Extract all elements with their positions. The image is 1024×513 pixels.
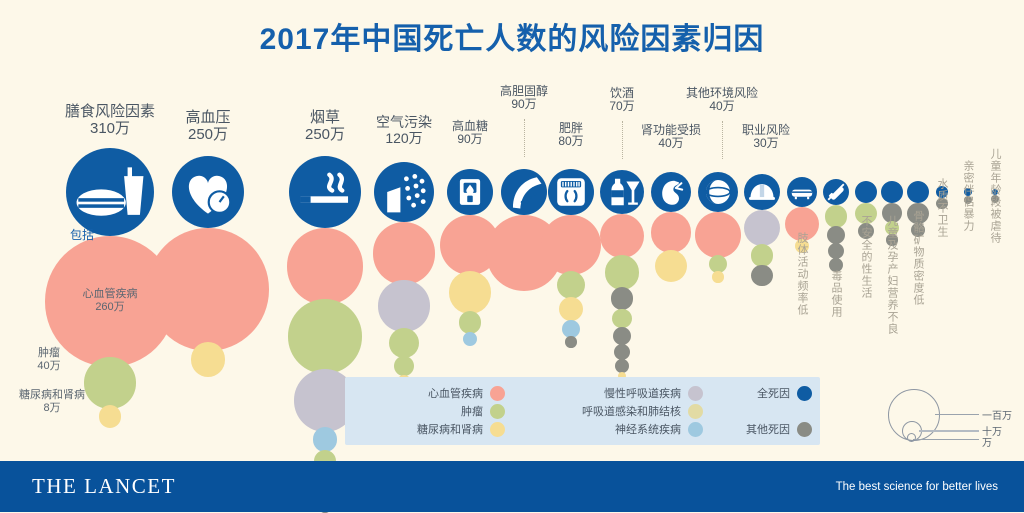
cause-bubble: [751, 244, 774, 267]
cause-bubble: [373, 222, 436, 285]
risk-icon-10[interactable]: [698, 172, 738, 212]
legend-swatch: [490, 404, 505, 419]
legend-item-c-2: 其他死因: [746, 420, 812, 438]
risk-icon-1[interactable]: [66, 148, 154, 236]
cause-bubble: [559, 297, 583, 321]
legend-item-b-1: 慢性呼吸道疾病: [523, 384, 703, 402]
cause-bubble: [557, 271, 585, 299]
callout-name: 肿瘤: [38, 347, 60, 359]
vertical-risk-label: 儿童年龄段被虐待: [989, 148, 1000, 244]
page-title: 2017年中国死亡人数的风险因素归因: [0, 14, 1024, 58]
legend-label: 呼吸道感染和肺结核: [582, 403, 681, 419]
risk-icon-8[interactable]: [600, 170, 644, 214]
scale-label-million: 一百万: [982, 407, 1012, 422]
cause-bubble: [709, 255, 727, 273]
legend-label: 肿瘤: [461, 403, 483, 419]
risk-icon-9[interactable]: [651, 172, 691, 212]
cause-bubble: [825, 205, 848, 228]
callout-value: 8万: [43, 402, 60, 414]
risk-name: 职业风险: [676, 124, 856, 137]
risk-value: 40万: [632, 100, 812, 113]
risk-icon-11[interactable]: [744, 174, 780, 210]
cause-bubble: [459, 311, 482, 334]
cause-bubble: [655, 250, 687, 282]
cause-bubble: [287, 228, 364, 305]
footer-tagline: The best science for better lives: [836, 481, 998, 493]
legend-item-a-1: 心血管疾病: [355, 384, 505, 402]
legend-panel: 心血管疾病肿瘤糖尿病和肾病 慢性呼吸道疾病呼吸道感染和肺结核神经系统疾病 全死因…: [345, 377, 820, 445]
legend-swatch: [490, 386, 505, 401]
scale-label-ten-thousand: 万: [982, 434, 992, 449]
cause-bubble: [695, 212, 741, 258]
risk-icon-3[interactable]: [289, 156, 361, 228]
callout-cardiovascular: 心血管疾病 260万: [62, 288, 158, 314]
column-header-11: 职业风险30万: [676, 124, 856, 151]
legend-label: 全死因: [757, 385, 790, 401]
cause-bubble: [744, 210, 780, 246]
vertical-risk-label: 毒品使用: [830, 270, 841, 318]
vertical-risk-label: 亲密伴侣暴力: [962, 160, 973, 232]
legend-item-b-2: 呼吸道感染和肺结核: [523, 402, 703, 420]
risk-icon-15[interactable]: [881, 181, 903, 203]
legend-swatch: [797, 422, 812, 437]
legend-label: 糖尿病和肾病: [417, 421, 483, 437]
risk-icon-16[interactable]: [907, 181, 929, 203]
cause-bubble: [191, 342, 225, 376]
callout-diabetes-kidney: 糖尿病和肾病 8万: [6, 389, 98, 414]
includes-label: 包括: [70, 226, 94, 243]
legend-item-c-1: 全死因: [757, 384, 812, 402]
risk-name: 其他环境风险: [632, 87, 812, 100]
risk-icon-13[interactable]: [823, 179, 849, 205]
infographic-canvas: 2017年中国死亡人数的风险因素归因 膳食风险因素310万高血压250万烟草25…: [0, 0, 1024, 512]
cause-bubble: [751, 265, 772, 286]
cause-bubble: [378, 280, 429, 331]
scale-key: 一百万 十万 万: [880, 383, 1020, 445]
cause-bubble: [611, 287, 634, 310]
cause-bubble: [541, 215, 601, 275]
legend-item-a-3: 糖尿病和肾病: [355, 420, 505, 438]
cause-bubble: [827, 226, 845, 244]
legend-swatch: [797, 386, 812, 401]
vertical-risk-label: 骨骼矿物质密度低: [912, 210, 923, 306]
cause-bubble: [651, 212, 692, 253]
legend-label: 神经系统疾病: [615, 421, 681, 437]
cause-bubble: [565, 336, 576, 347]
callout-value: 260万: [95, 301, 124, 313]
risk-icon-4[interactable]: [374, 162, 434, 222]
cause-bubble: [99, 405, 122, 428]
callout-name: 糖尿病和肾病: [19, 389, 85, 401]
risk-icon-6[interactable]: [501, 169, 547, 215]
cause-bubble: [605, 255, 639, 289]
cause-bubble: [313, 427, 337, 451]
legend-swatch: [490, 422, 505, 437]
cause-bubble: [147, 228, 270, 351]
cause-bubble: [614, 344, 630, 360]
risk-icon-7[interactable]: [548, 169, 594, 215]
legend-column-1: 心血管疾病肿瘤糖尿病和肾病: [355, 384, 505, 438]
risk-icon-2[interactable]: [172, 156, 244, 228]
risk-value: 30万: [676, 137, 856, 150]
callout-value: 40万: [37, 360, 60, 372]
callout-name: 心血管疾病: [83, 288, 138, 300]
vertical-risk-label: 不安全的性生活: [860, 215, 871, 299]
column-header-10: 其他环境风险40万: [632, 87, 812, 114]
cause-bubble: [562, 320, 580, 338]
cause-bubble: [288, 299, 363, 374]
vertical-risk-label: 水质不卫生: [936, 178, 947, 238]
cause-bubble: [389, 328, 419, 358]
risk-icon-14[interactable]: [855, 181, 877, 203]
cause-bubble: [712, 271, 723, 282]
callout-neoplasm: 肿瘤 40万: [18, 347, 80, 372]
legend-label: 其他死因: [746, 421, 790, 437]
legend-swatch: [688, 404, 703, 419]
vertical-risk-label: 肢体活动频率低: [796, 232, 807, 316]
vertical-risk-label: 儿童及孕产妇营养不良: [886, 215, 897, 335]
legend-label: 慢性呼吸道疾病: [604, 385, 681, 401]
cause-bubble: [600, 214, 644, 258]
risk-icon-12[interactable]: [787, 177, 817, 207]
cause-bubble: [449, 271, 492, 314]
legend-swatch: [688, 422, 703, 437]
cause-bubble: [463, 332, 477, 346]
footer-bar: THE LANCET The best science for better l…: [0, 461, 1024, 512]
scale-circle-ten-thousand: [907, 433, 916, 442]
cause-bubble: [615, 359, 629, 373]
cause-bubble: [613, 327, 631, 345]
cause-bubble: [394, 356, 414, 376]
legend-item-a-2: 肿瘤: [355, 402, 505, 420]
cause-bubble: [612, 309, 632, 329]
legend-label: 心血管疾病: [428, 385, 483, 401]
scale-leader-ten-thousand: [913, 439, 979, 440]
legend-item-b-3: 神经系统疾病: [523, 420, 703, 438]
lancet-logo: THE LANCET: [32, 474, 176, 499]
legend-column-2: 慢性呼吸道疾病呼吸道感染和肺结核神经系统疾病: [523, 384, 703, 438]
scale-leader-hundred-thousand: [919, 430, 979, 432]
scale-leader-million: [935, 414, 979, 415]
risk-icon-5[interactable]: [447, 169, 493, 215]
legend-swatch: [688, 386, 703, 401]
cause-bubble: [828, 243, 844, 259]
